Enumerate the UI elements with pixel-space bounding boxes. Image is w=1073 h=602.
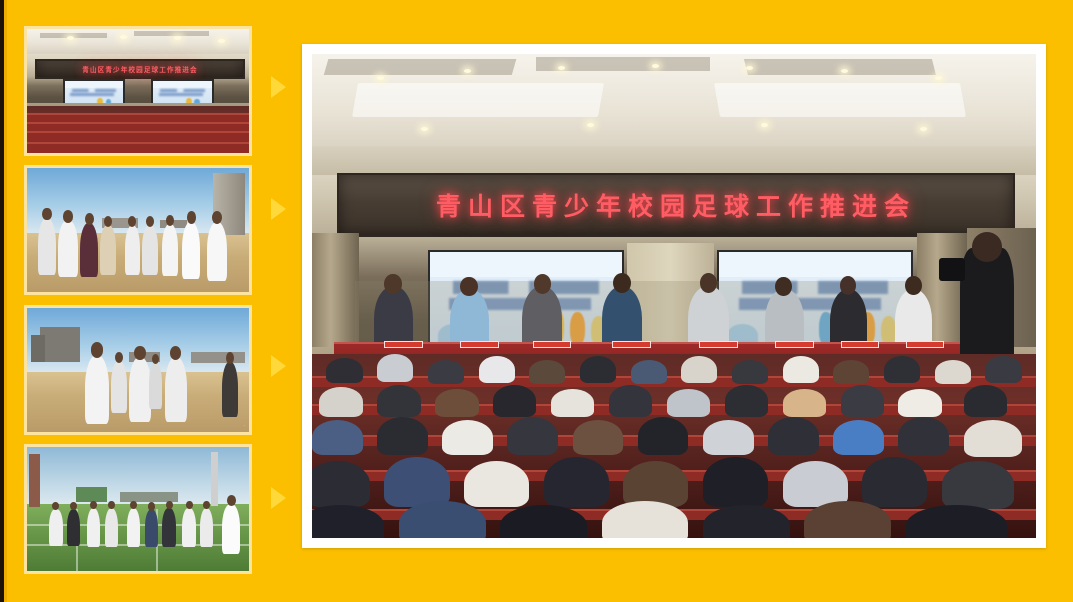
thumbnail-1[interactable]: 青山区青少年校园足球工作推进会 (24, 26, 252, 156)
name-card (775, 341, 813, 348)
person (182, 222, 200, 279)
person (49, 509, 62, 546)
building (191, 352, 244, 363)
person (162, 224, 178, 276)
watermark: · (243, 423, 245, 429)
thumb-3-image: · (27, 308, 249, 432)
stage-banner-text: 青山区青少年校园足球工作推进会 (82, 64, 197, 74)
tower (211, 452, 218, 507)
person (165, 357, 187, 421)
slide-canvas: 青山区青少年校园足球工作推进会 (0, 0, 1073, 602)
official-head (460, 277, 477, 296)
hall-scene: 青山区青少年校园足球工作推进会 (312, 54, 1036, 538)
chimney (29, 454, 40, 506)
name-card (460, 341, 498, 348)
thumb-1-image: 青山区青少年校园足球工作推进会 (27, 29, 249, 153)
person (58, 220, 78, 277)
person (207, 222, 227, 282)
official-head (905, 276, 922, 295)
person (129, 357, 151, 421)
building (76, 487, 107, 502)
main-photo: 青山区青少年校园足球工作推进会 (312, 54, 1036, 538)
play-arrow-icon-2[interactable] (271, 198, 286, 220)
official-head (534, 274, 551, 293)
person (145, 509, 158, 547)
thumbnail-2[interactable] (24, 165, 252, 295)
spotlight (218, 39, 225, 43)
thumbnail-3[interactable]: · (24, 305, 252, 435)
thumb-4-image (27, 447, 249, 571)
official-head (775, 277, 792, 296)
person (100, 225, 116, 275)
name-card (906, 341, 944, 348)
person (80, 223, 98, 278)
name-card (533, 341, 571, 348)
name-card (841, 341, 879, 348)
play-arrow-icon-4[interactable] (271, 487, 286, 509)
person (222, 504, 240, 554)
audience-area (312, 354, 1036, 538)
play-arrow-icon-1[interactable] (271, 76, 286, 98)
person (67, 509, 80, 546)
building (40, 327, 80, 362)
name-card (699, 341, 737, 348)
person (222, 362, 238, 417)
person (87, 508, 100, 548)
stage-banner: 青山区青少年校园足球工作推进会 (35, 59, 245, 79)
main-photo-frame[interactable]: 青山区青少年校园足球工作推进会 (302, 44, 1046, 548)
stage-banner: 青山区青少年校园足球工作推进会 (337, 173, 1014, 238)
person (125, 225, 141, 275)
person (85, 355, 109, 424)
audience-area (27, 106, 249, 153)
thumbnail-4[interactable] (24, 444, 252, 574)
person (38, 218, 56, 275)
person (111, 361, 127, 413)
ceiling-panel (134, 31, 209, 36)
play-arrow-icon-3[interactable] (271, 355, 286, 377)
person (105, 508, 118, 548)
building (31, 335, 44, 362)
thumb-2-image (27, 168, 249, 292)
person (162, 508, 175, 548)
person (200, 508, 213, 548)
hall-scene: 青山区青少年校园足球工作推进会 (27, 29, 249, 153)
official-head (384, 274, 401, 293)
person (142, 225, 158, 275)
person (127, 508, 140, 548)
thumbnail-rail: 青山区青少年校园足球工作推进会 (24, 26, 252, 574)
name-card (384, 341, 422, 348)
name-card (612, 341, 650, 348)
left-edge-highlight (4, 0, 7, 602)
person (182, 508, 195, 548)
person (149, 362, 162, 409)
stage-banner-text: 青山区青少年校园足球工作推进会 (436, 187, 916, 223)
